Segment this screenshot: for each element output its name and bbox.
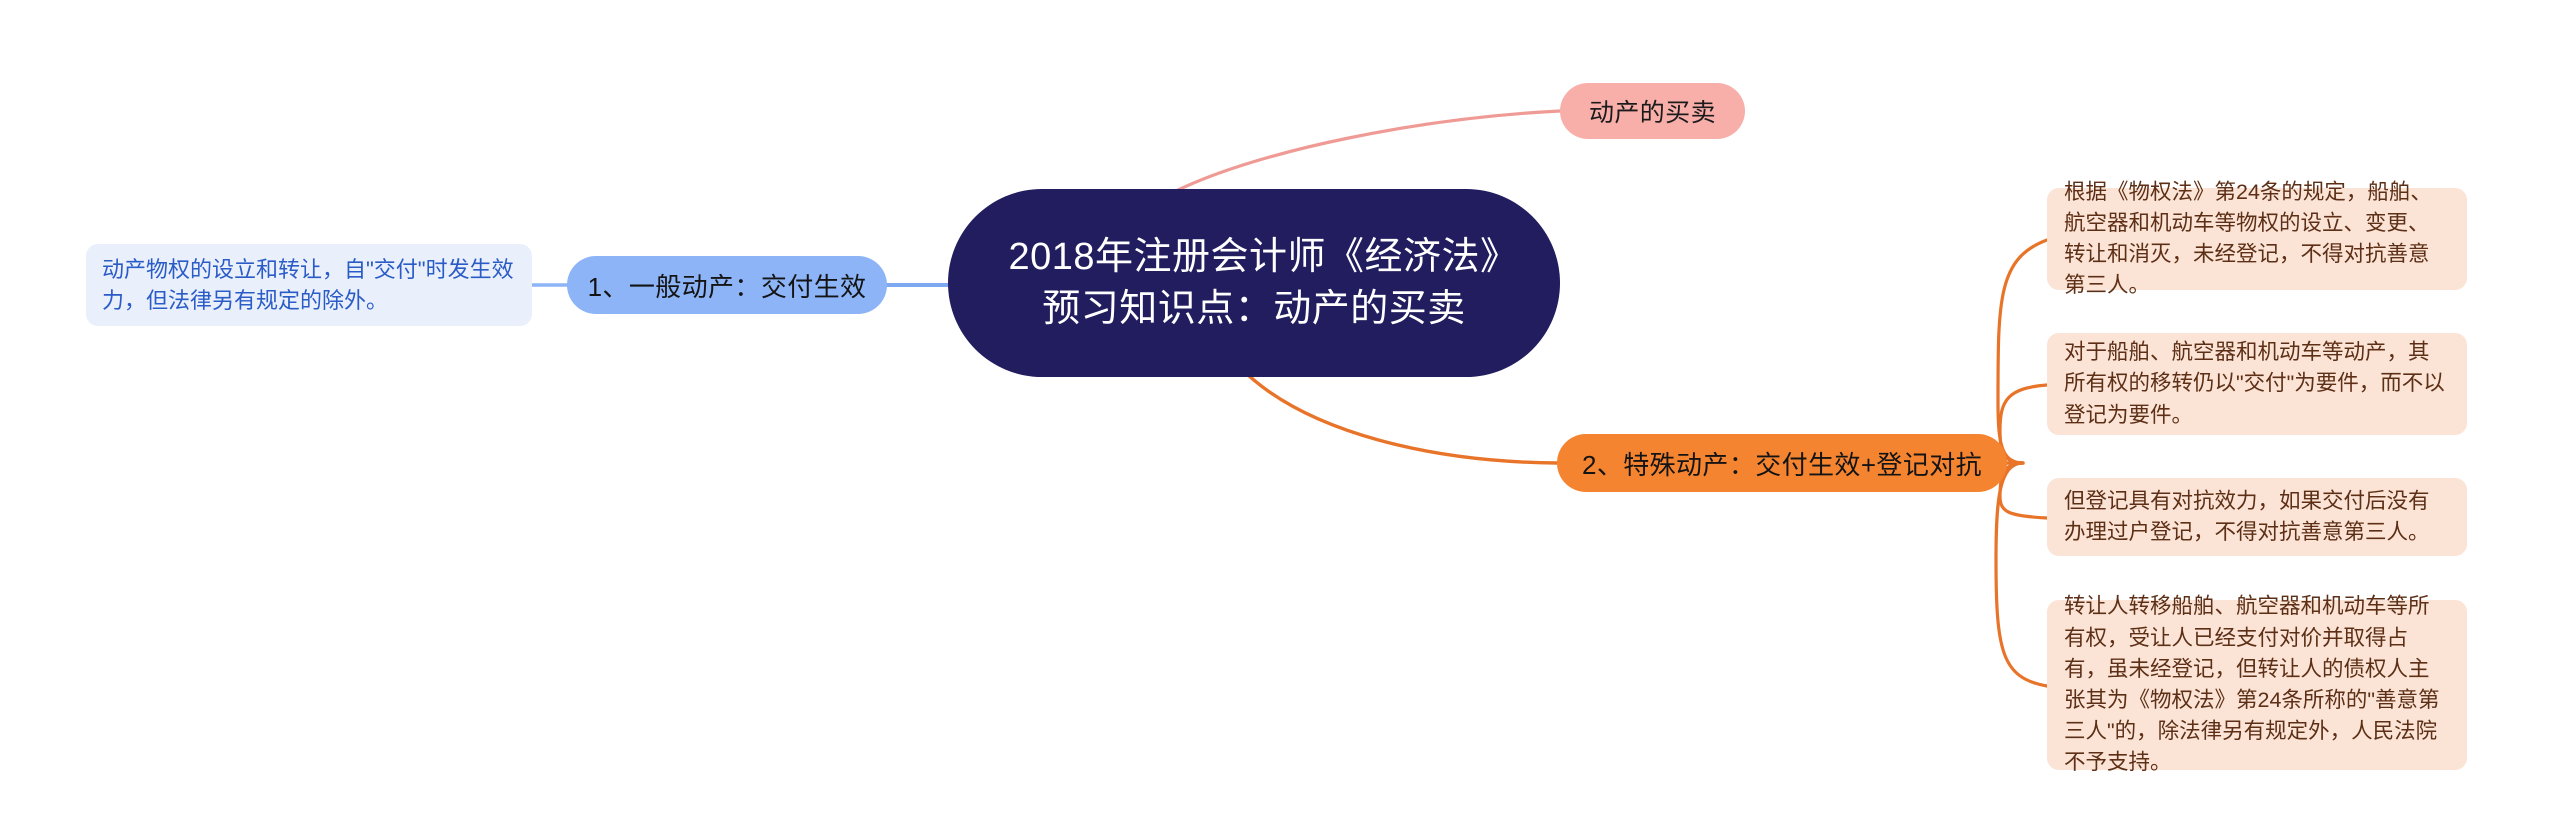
leaf-special-movable-4[interactable]: 转让人转移船舶、航空器和机动车等所有权，受让人已经支付对价并取得占有，虽未经登记…: [2047, 600, 2467, 770]
connector-spine-to-leaf-1: [1998, 240, 2047, 463]
node-special-movable[interactable]: 2、特殊动产：交付生效+登记对抗: [1557, 434, 2007, 492]
mind-map-canvas: 2018年注册会计师《经济法》预习知识点：动产的买卖 动产的买卖 1、一般动产：…: [0, 0, 2560, 831]
connector-spine-to-leaf-4: [1996, 463, 2047, 686]
connector-spine-to-leaf-3: [2000, 463, 2047, 518]
connector-root-to-orangepill: [1247, 374, 1557, 463]
leaf-special-movable-1[interactable]: 根据《物权法》第24条的规定，船舶、航空器和机动车等物权的设立、变更、转让和消灭…: [2047, 188, 2467, 290]
node-topic-movable-sale[interactable]: 动产的买卖: [1560, 83, 1745, 139]
connector-root-to-topic: [1178, 111, 1560, 190]
connector-spine-to-leaf-2: [2000, 385, 2047, 463]
node-general-movable[interactable]: 1、一般动产：交付生效: [567, 256, 887, 314]
leaf-special-movable-2[interactable]: 对于船舶、航空器和机动车等动产，其所有权的移转仍以"交付"为要件，而不以登记为要…: [2047, 333, 2467, 435]
leaf-general-movable-1[interactable]: 动产物权的设立和转让，自"交付"时发生效力，但法律另有规定的除外。: [86, 244, 532, 326]
root-node[interactable]: 2018年注册会计师《经济法》预习知识点：动产的买卖: [948, 189, 1560, 377]
leaf-special-movable-3[interactable]: 但登记具有对抗效力，如果交付后没有办理过户登记，不得对抗善意第三人。: [2047, 478, 2467, 556]
